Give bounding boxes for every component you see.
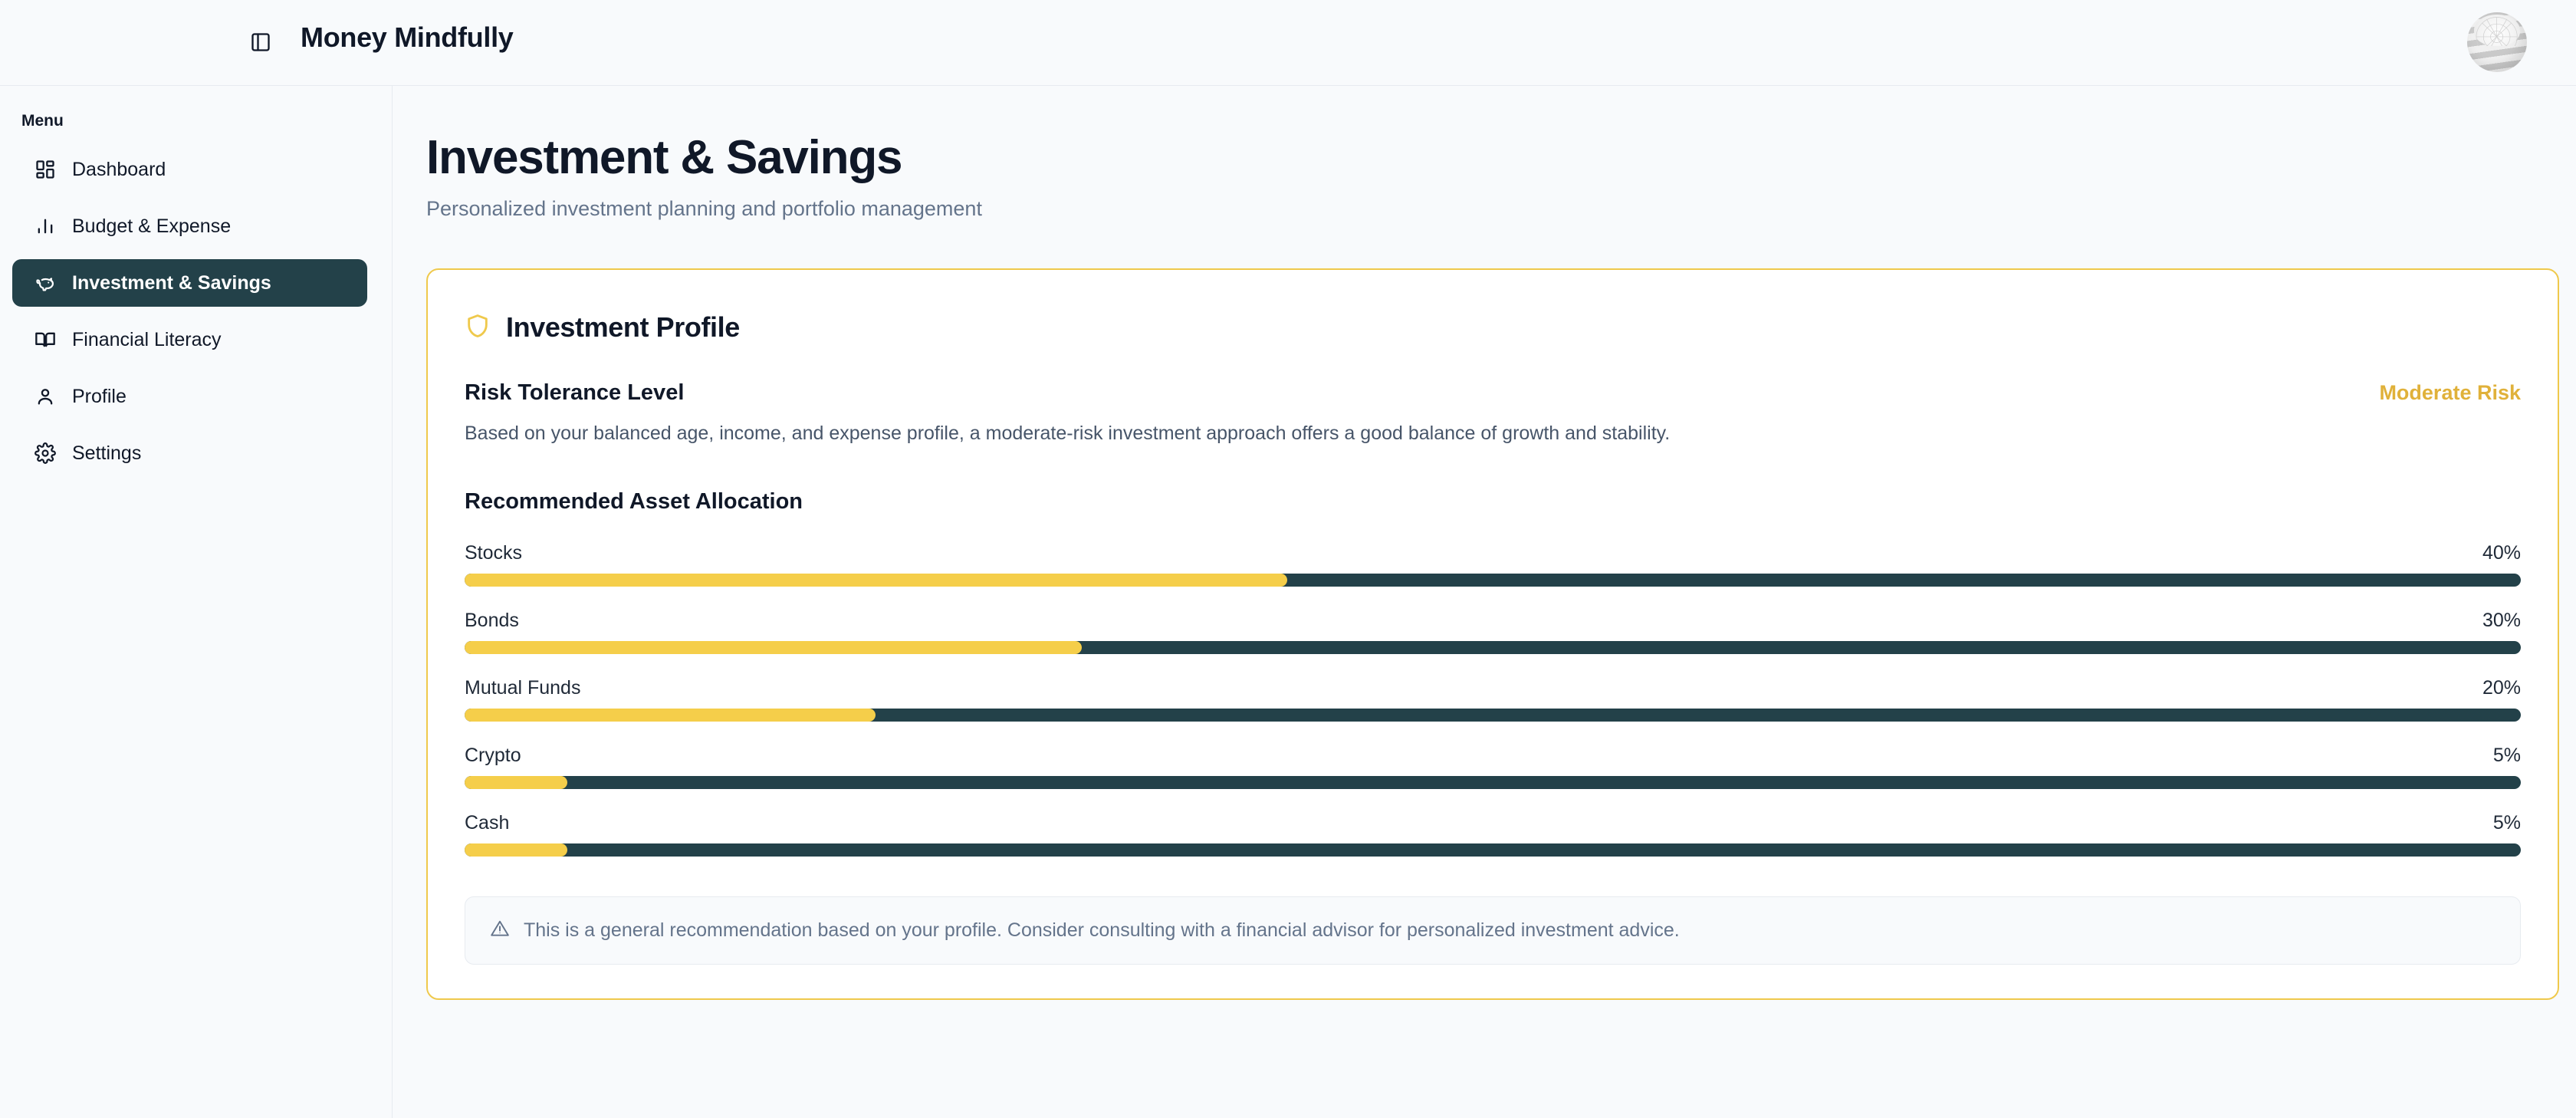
layout-grid-icon xyxy=(34,158,57,181)
allocation-row: Bonds 30% xyxy=(465,610,2521,654)
shield-icon xyxy=(465,313,491,343)
sidebar-item-investment-savings[interactable]: Investment & Savings xyxy=(12,259,367,307)
allocation-label: Cash xyxy=(465,812,509,834)
allocation-value: 5% xyxy=(2493,745,2521,767)
piggy-bank-icon xyxy=(34,271,57,294)
allocation-progress-fill xyxy=(465,641,1082,654)
allocation-value: 20% xyxy=(2482,677,2521,699)
allocation-progress-track xyxy=(465,709,2521,722)
allocation-label: Stocks xyxy=(465,542,522,564)
sidebar-item-budget-expense[interactable]: Budget & Expense xyxy=(12,202,367,250)
app-title: Money Mindfully xyxy=(301,21,514,54)
allocation-list: Stocks 40% Bonds 30% Mutual Funds xyxy=(465,542,2521,857)
allocation-label: Bonds xyxy=(465,610,519,632)
sidebar-item-dashboard[interactable]: Dashboard xyxy=(12,146,367,193)
page-title: Investment & Savings xyxy=(426,130,2527,185)
disclaimer-text: This is a general recommendation based o… xyxy=(524,919,1680,942)
allocation-progress-track xyxy=(465,843,2521,857)
allocation-label: Crypto xyxy=(465,745,521,767)
sidebar-item-label: Profile xyxy=(72,386,127,408)
allocation-progress-track xyxy=(465,574,2521,587)
panel-left-icon xyxy=(250,31,271,55)
allocation-progress-fill xyxy=(465,709,876,722)
allocation-progress-fill xyxy=(465,843,567,857)
gear-icon xyxy=(34,442,57,465)
avatar-dome xyxy=(2474,15,2519,46)
allocation-progress-track xyxy=(465,776,2521,789)
risk-level-badge: Moderate Risk xyxy=(2379,381,2521,405)
book-open-icon xyxy=(34,328,57,351)
allocation-progress-fill xyxy=(465,776,567,789)
top-bar: Money Mindfully xyxy=(0,0,2576,86)
warning-triangle-icon xyxy=(490,919,510,942)
page-subtitle: Personalized investment planning and por… xyxy=(426,197,2527,221)
sidebar-item-label: Settings xyxy=(72,442,141,465)
sidebar: Menu Dashboard Budget & Expense xyxy=(0,86,393,1118)
allocation-row: Crypto 5% xyxy=(465,745,2521,789)
risk-tolerance-title: Risk Tolerance Level xyxy=(465,380,684,406)
sidebar-item-settings[interactable]: Settings xyxy=(12,429,367,477)
sidebar-item-label: Dashboard xyxy=(72,159,166,181)
allocation-row: Stocks 40% xyxy=(465,542,2521,587)
sidebar-item-label: Budget & Expense xyxy=(72,215,231,238)
disclaimer-notice: This is a general recommendation based o… xyxy=(465,896,2521,965)
sidebar-toggle-button[interactable] xyxy=(245,28,276,58)
allocation-progress-fill xyxy=(465,574,1287,587)
card-header: Investment Profile xyxy=(465,311,2521,344)
user-icon xyxy=(34,385,57,408)
allocation-value: 30% xyxy=(2482,610,2521,632)
investment-profile-card: Investment Profile Risk Tolerance Level … xyxy=(426,268,2559,1000)
bar-chart-icon xyxy=(34,215,57,238)
allocation-value: 5% xyxy=(2493,812,2521,834)
allocation-label: Mutual Funds xyxy=(465,677,580,699)
allocation-heading: Recommended Asset Allocation xyxy=(465,489,2521,515)
sidebar-item-label: Financial Literacy xyxy=(72,329,222,351)
sidebar-item-profile[interactable]: Profile xyxy=(12,373,367,420)
allocation-row: Cash 5% xyxy=(465,812,2521,857)
sidebar-item-financial-literacy[interactable]: Financial Literacy xyxy=(12,316,367,363)
allocation-progress-track xyxy=(465,641,2521,654)
risk-description: Based on your balanced age, income, and … xyxy=(465,423,2521,445)
allocation-row: Mutual Funds 20% xyxy=(465,677,2521,722)
card-title: Investment Profile xyxy=(506,311,740,344)
main-content: Investment & Savings Personalized invest… xyxy=(393,86,2576,1118)
sidebar-menu-label: Menu xyxy=(0,112,392,130)
allocation-value: 40% xyxy=(2482,542,2521,564)
risk-tolerance-row: Risk Tolerance Level Moderate Risk xyxy=(465,380,2521,406)
avatar[interactable] xyxy=(2467,12,2527,72)
sidebar-item-label: Investment & Savings xyxy=(72,272,271,294)
